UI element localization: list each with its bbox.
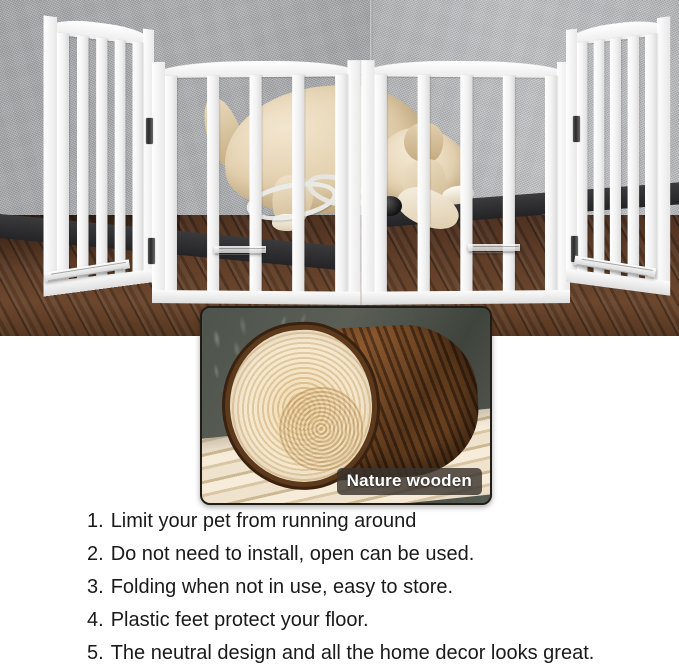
gate-hinge [148, 238, 155, 264]
gate-slat [593, 40, 604, 274]
feature-item-3: 3. Folding when not in use, easy to stor… [87, 571, 679, 604]
gate-slat [77, 35, 89, 278]
feature-number: 3. [87, 571, 104, 604]
nature-wooden-badge: Nature wooden [337, 468, 482, 495]
feature-text: Folding when not in use, easy to store. [111, 571, 453, 604]
gate-slat [503, 75, 515, 290]
feature-number: 5. [87, 637, 104, 670]
plastic-support-foot-center-left [214, 246, 266, 253]
gate-slat [207, 75, 219, 290]
gate-hinge [573, 116, 580, 142]
panel-slats [57, 33, 143, 281]
gate-slat [460, 75, 472, 291]
feature-number: 2. [87, 538, 104, 571]
gate-slat [165, 76, 177, 290]
feature-list: 1. Limit your pet from running around 2.… [0, 505, 679, 670]
feature-item-2: 2. Do not need to install, open can be u… [87, 538, 679, 571]
feature-item-1: 1. Limit your pet from running around [87, 505, 679, 538]
feature-number: 4. [87, 604, 104, 637]
gate-slat [249, 75, 261, 291]
feature-text: Do not need to install, open can be used… [111, 538, 475, 571]
gate-slat [133, 41, 143, 271]
panel-stile-left [44, 15, 57, 296]
panel-stile-right [347, 60, 360, 305]
gate-slat [610, 38, 621, 276]
panel-stile-left [361, 60, 374, 305]
gate-slat [375, 74, 387, 291]
panel-slats [375, 74, 557, 291]
gate-slat [57, 33, 69, 281]
product-hero-photo [0, 0, 679, 336]
gate-slat [115, 39, 126, 273]
gate-slat [545, 76, 557, 290]
nature-wooden-inset-photo: Nature wooden [200, 306, 492, 505]
panel-bottom-rail [361, 290, 570, 305]
gate-hinge [146, 118, 153, 144]
gate-slat [335, 74, 347, 291]
feature-text: The neutral design and all the home deco… [111, 637, 595, 670]
gate-panel-center-right [361, 60, 570, 305]
feature-item-5: 5. The neutral design and all the home d… [87, 637, 679, 670]
feature-text: Plastic feet protect your floor. [111, 604, 369, 637]
feature-number: 1. [87, 505, 104, 538]
panel-stile-right [657, 16, 670, 295]
feature-text: Limit your pet from running around [111, 505, 417, 538]
gate-panel-far-left [44, 15, 154, 296]
feature-item-4: 4. Plastic feet protect your floor. [87, 604, 679, 637]
panel-slats [165, 74, 347, 291]
gate-slat [96, 37, 107, 276]
plastic-support-foot-center-right [468, 244, 520, 251]
panel-bottom-rail [152, 290, 361, 305]
gate-slat [645, 33, 657, 279]
gate-panel-far-right [566, 16, 670, 295]
panel-slats [577, 33, 657, 279]
gate-slat [418, 75, 430, 292]
gate-slat [577, 41, 587, 271]
gate-slat [627, 35, 639, 277]
panel-stile-left [152, 62, 165, 303]
gate-panel-center-left [152, 60, 361, 305]
gate-slat [292, 75, 304, 292]
